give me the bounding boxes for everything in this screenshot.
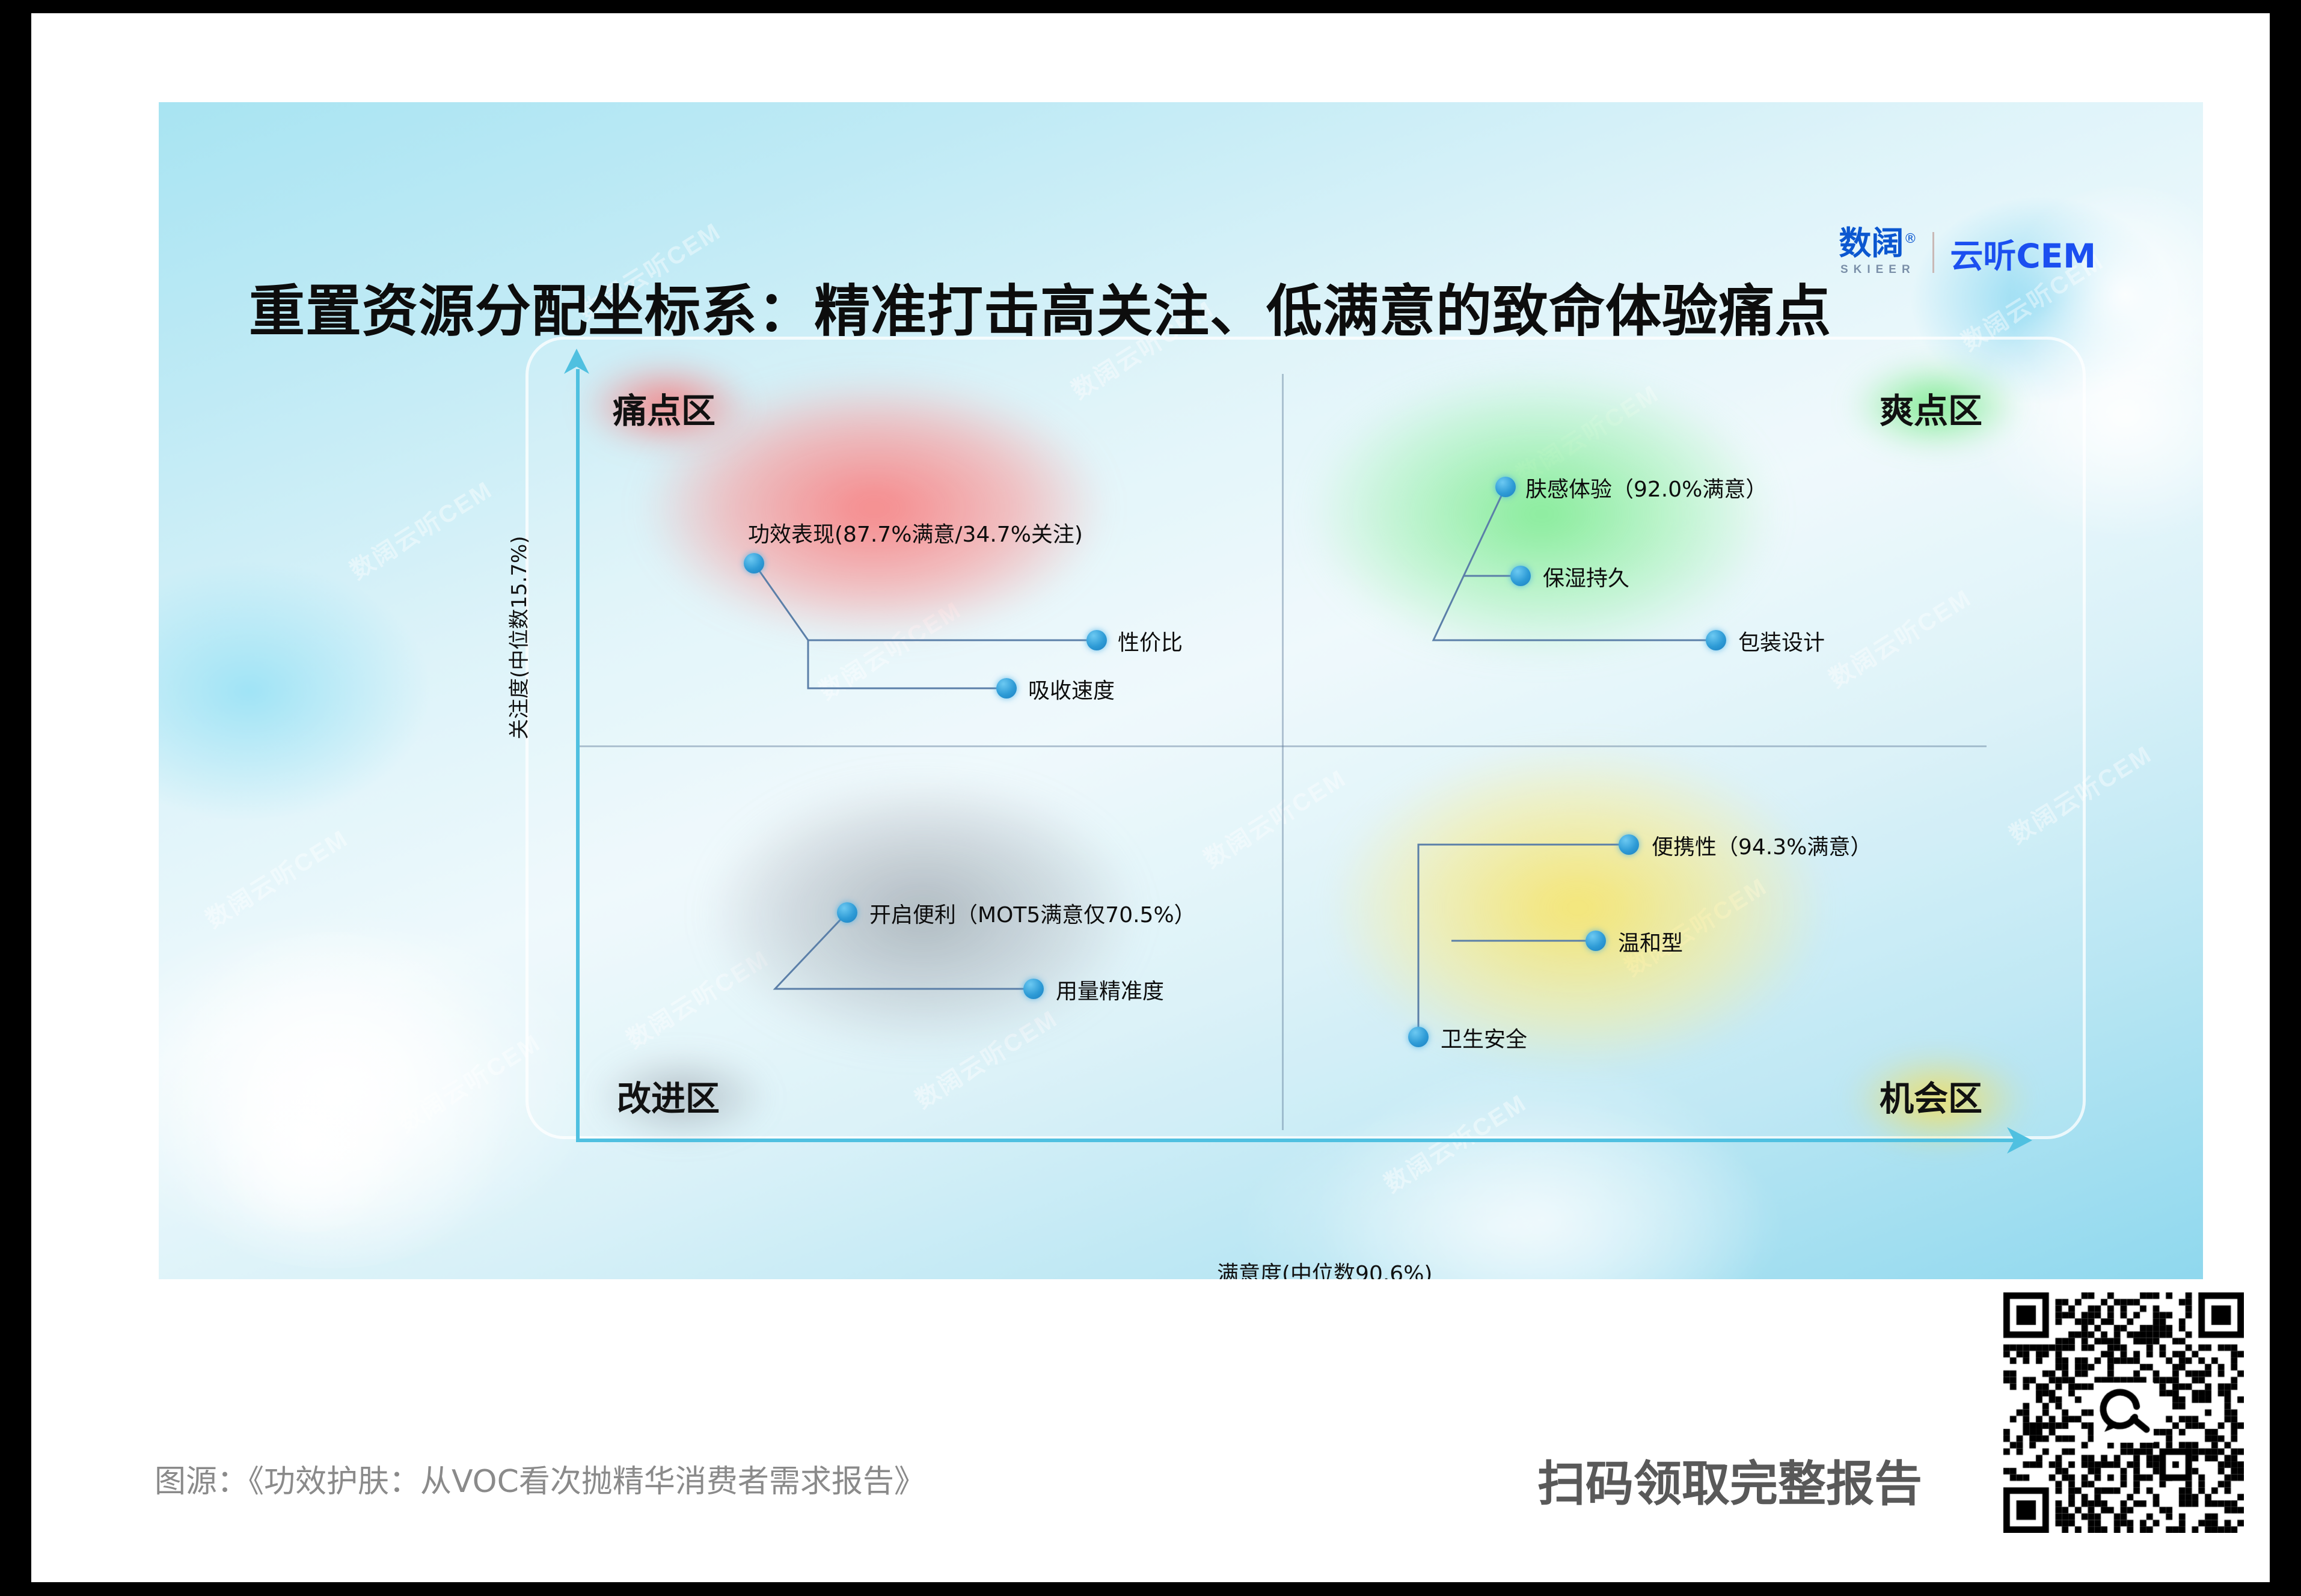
data-point[interactable]	[1510, 566, 1531, 586]
watermark: 数阔云听CEM	[198, 819, 354, 935]
quadrant-blob-opportunity	[1337, 751, 1818, 1064]
data-point[interactable]	[1619, 834, 1639, 855]
divider-vertical	[1282, 374, 1284, 1130]
y-axis	[576, 369, 580, 1142]
screenshot-root: 数阔云听CEM 数阔云听CEM 数阔云听CEM 数阔云听CEM 数阔云听CEM …	[0, 0, 2301, 1596]
logo-divider	[1932, 232, 1934, 273]
qr-code[interactable]	[2003, 1292, 2244, 1533]
data-point-label: 功效表现(87.7%满意/34.7%关注)	[748, 517, 1083, 548]
data-point[interactable]	[1023, 979, 1044, 999]
data-point-label: 卫生安全	[1441, 1022, 1527, 1053]
logo-product-label: 云听CEM	[1950, 240, 2096, 273]
data-point-label: 便携性（94.3%满意）	[1652, 830, 1872, 861]
data-point-label: 包装设计	[1738, 625, 1825, 656]
watermark: 数阔云听CEM	[390, 1024, 547, 1139]
slide-card: 数阔云听CEM 数阔云听CEM 数阔云听CEM 数阔云听CEM 数阔云听CEM …	[31, 13, 2270, 1582]
data-point-label: 用量精准度	[1056, 974, 1164, 1005]
watermark: 数阔云听CEM	[342, 471, 498, 586]
x-axis-label: 满意度(中位数90.6%)	[1217, 1256, 1432, 1279]
data-point-label: 温和型	[1618, 926, 1683, 957]
bg-blob-left	[159, 932, 544, 1268]
logo-subtitle: SKIEER	[1839, 263, 1917, 277]
data-point[interactable]	[1086, 630, 1107, 650]
source-caption: 图源：《功效护肤：从VOC看次抛精华消费者需求报告》	[155, 1456, 925, 1501]
data-point-label: 性价比	[1118, 625, 1183, 656]
data-point[interactable]	[1495, 477, 1516, 497]
scatter-plot: 痛点区 爽点区 改进区 机会区	[574, 361, 2035, 1196]
cta-text: 扫码领取完整报告	[1537, 1445, 1922, 1515]
y-axis-arrow-icon	[564, 349, 589, 375]
data-point[interactable]	[837, 902, 857, 923]
data-point[interactable]	[1706, 630, 1726, 650]
data-point[interactable]	[1586, 931, 1606, 951]
zone-label-pain: 痛点区	[613, 384, 715, 433]
y-axis-label: 关注度(中位数15.7%)	[503, 536, 532, 739]
page-title: 重置资源分配坐标系：精准打击高关注、低满意的致命体验痛点	[249, 266, 1831, 347]
quadrant-blob-delight	[1313, 373, 1770, 655]
brand-logo: 数阔® SKIEER 云听CEM	[1839, 227, 2096, 277]
data-point-label: 肤感体验（92.0%满意）	[1525, 472, 1767, 503]
data-point-label: 保湿持久	[1543, 561, 1629, 592]
data-point[interactable]	[996, 678, 1017, 699]
bg-blob-left-2	[201, 1052, 417, 1232]
data-point[interactable]	[744, 553, 764, 573]
data-point-label: 吸收速度	[1028, 673, 1115, 705]
x-axis-arrow-icon	[2006, 1127, 2032, 1154]
data-point[interactable]	[1408, 1027, 1429, 1047]
chart-panel: 数阔云听CEM 数阔云听CEM 数阔云听CEM 数阔云听CEM 数阔云听CEM …	[159, 102, 2203, 1279]
zone-label-delight: 爽点区	[1880, 384, 1982, 433]
registered-icon: ®	[1904, 231, 1917, 246]
x-axis	[576, 1139, 2017, 1142]
logo-cn-label: 数阔	[1839, 224, 1904, 262]
zone-label-opportunity: 机会区	[1880, 1071, 1982, 1121]
zone-label-improve: 改进区	[617, 1071, 720, 1121]
data-point-label: 开启便利（MOT5满意仅70.5%）	[869, 897, 1196, 929]
logo-cn-text: 数阔®	[1839, 227, 1917, 260]
